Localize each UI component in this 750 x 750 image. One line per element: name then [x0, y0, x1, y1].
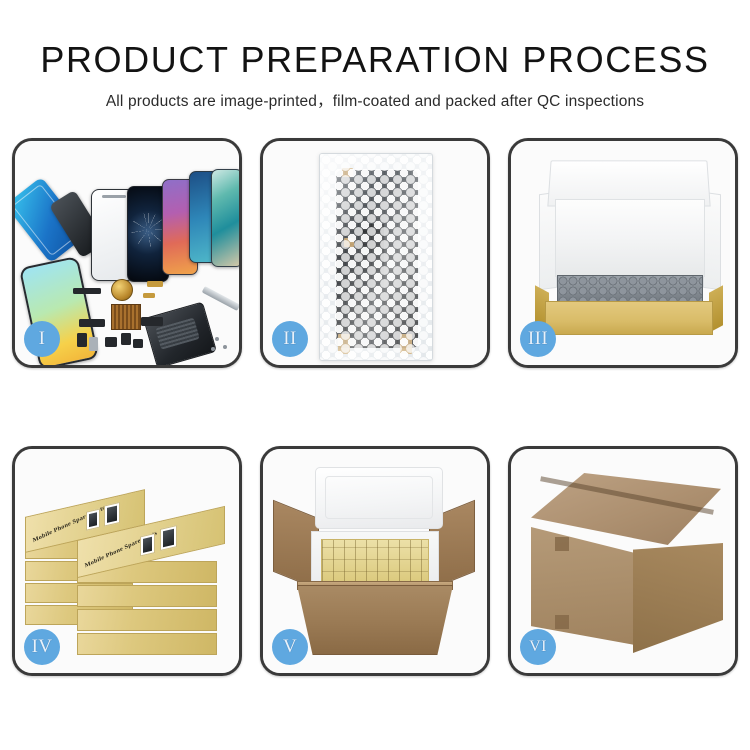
box-window-left-2: [104, 502, 120, 527]
page-title: PRODUCT PREPARATION PROCESS: [0, 38, 750, 82]
part-metal-shield: [89, 337, 98, 351]
plastic-sheen: [320, 154, 432, 360]
step-panel-2: II: [260, 138, 490, 368]
tweezers-icon: [202, 286, 241, 311]
step-badge-5: V: [272, 629, 308, 665]
step-badge-1: I: [24, 321, 60, 357]
part-flex-cable-b: [141, 317, 163, 326]
part-button-module: [133, 339, 143, 348]
screw-icon-2: [223, 345, 227, 349]
stacked-box-fr-3: [77, 585, 217, 607]
foam-box-lid: [315, 467, 443, 529]
stacked-box-fr-1: [77, 633, 217, 655]
carton-tape-patch-bottom: [555, 615, 569, 629]
step-panel-1: I: [12, 138, 242, 368]
part-gold-clip: [143, 293, 155, 298]
step-panel-3: III: [508, 138, 738, 368]
chip-grid-icon: [111, 304, 141, 330]
step-badge-6: VI: [520, 629, 556, 665]
carton-front-face: [531, 527, 635, 645]
part-flex-cable-a: [79, 319, 105, 327]
step-panel-4: Mobile Phone Spare Parts Mobile Phone Sp…: [12, 446, 242, 676]
box-window-left-1: [86, 509, 100, 531]
screw-icon-1: [215, 337, 219, 341]
carton-tape-patch-top: [555, 537, 569, 551]
part-connector-b: [105, 337, 117, 347]
foam-sheet: [555, 199, 705, 277]
step-badge-2: II: [272, 321, 308, 357]
box-front-panel: [545, 301, 713, 335]
phone-backplate: [143, 301, 217, 368]
part-gold-bracket: [147, 281, 163, 287]
process-steps-grid: I II: [12, 138, 738, 676]
stacked-box-fr-2: [77, 609, 217, 631]
step-panel-6: VI: [508, 446, 738, 676]
page-header: PRODUCT PREPARATION PROCESS All products…: [0, 0, 750, 115]
screw-icon-3: [211, 347, 215, 351]
box-window-right-1: [140, 533, 155, 556]
product-preparation-process-page: PRODUCT PREPARATION PROCESS All products…: [0, 0, 750, 750]
page-subtitle: All products are image-printed，film-coat…: [0, 89, 750, 115]
packed-kraft-boxes: [321, 539, 429, 585]
bubble-wrapped-screen: [319, 153, 433, 361]
carton-front-panel: [297, 585, 453, 655]
step-badge-3: III: [520, 321, 556, 357]
step-badge-4: IV: [24, 629, 60, 665]
speaker-module-icon: [111, 279, 133, 301]
part-connector-a: [77, 333, 87, 347]
step-panel-5: V: [260, 446, 490, 676]
carton-right-face: [633, 543, 723, 653]
part-connector-c: [121, 333, 131, 345]
box-window-right-2: [160, 525, 177, 551]
teal-swirl-phone: [211, 169, 242, 267]
part-earpiece: [73, 288, 101, 294]
